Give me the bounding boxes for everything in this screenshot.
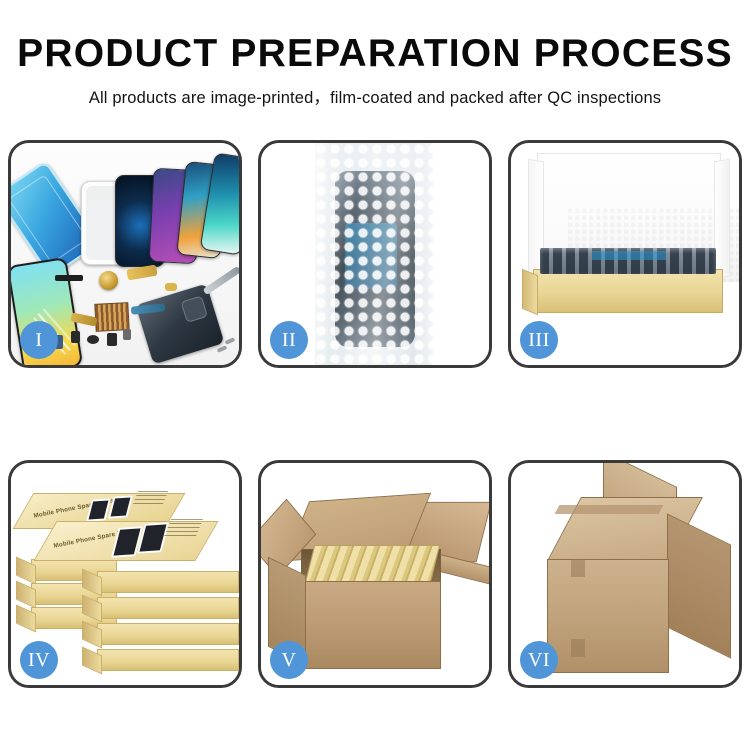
step-panel-3: III Wrapped parts placed into kraft inne… [508, 140, 742, 368]
page-subtitle: All products are image-printed，film-coat… [0, 84, 750, 108]
flex-cable-bar-icon [55, 275, 83, 281]
taptic-coil-icon [99, 271, 118, 290]
page-header: PRODUCT PREPARATION PROCESS All products… [0, 0, 750, 108]
bubble-wrapped-items-icon [540, 248, 716, 274]
sealed-shipping-carton-icon [547, 559, 669, 673]
screwdriver-tool-icon [203, 266, 242, 295]
step-panel-6: VI Carton taped and ready to ship [508, 460, 742, 688]
logic-board-chip-icon [94, 302, 129, 332]
component-part-icon [71, 331, 80, 343]
bubble-wrap-sheet-icon [315, 143, 433, 368]
component-part-icon [165, 283, 177, 291]
stacked-box-icon [97, 597, 239, 619]
step-panel-4: Mobile Phone Spare Parts Mobile Phone Sp… [8, 460, 242, 688]
component-part-icon [123, 329, 131, 340]
back-housing-icon [136, 284, 225, 365]
step-badge-2: II [270, 321, 308, 359]
film-sheen [315, 143, 433, 368]
component-part-icon [107, 333, 117, 346]
component-part-icon [87, 335, 99, 344]
stacked-box-icon [97, 649, 239, 671]
screw-icon [225, 337, 236, 345]
kraft-tray-icon [533, 269, 723, 313]
stacked-box-icon [97, 571, 239, 593]
page-title: PRODUCT PREPARATION PROCESS [0, 34, 750, 75]
process-step-grid: I Mobile phone LCD screens and spare par… [8, 140, 742, 688]
screw-icon [217, 345, 228, 353]
step-panel-5: V Boxes loaded into brown shipping carto… [258, 460, 492, 688]
step-badge-1: I [20, 321, 58, 359]
step-panel-1: I Mobile phone LCD screens and spare par… [8, 140, 242, 368]
step-badge-4: IV [20, 641, 58, 679]
step-badge-6: VI [520, 641, 558, 679]
carton-right-panel [667, 513, 731, 658]
step-badge-3: III [520, 321, 558, 359]
step-panel-2: II Part sealed in bubble wrap film [258, 140, 492, 368]
tape-tab-upper-icon [571, 559, 585, 577]
stacked-box-icon [97, 623, 239, 645]
packing-tape-icon [555, 505, 664, 514]
step-badge-5: V [270, 641, 308, 679]
open-shipping-carton-icon [301, 581, 441, 669]
tape-tab-lower-icon [571, 639, 585, 657]
